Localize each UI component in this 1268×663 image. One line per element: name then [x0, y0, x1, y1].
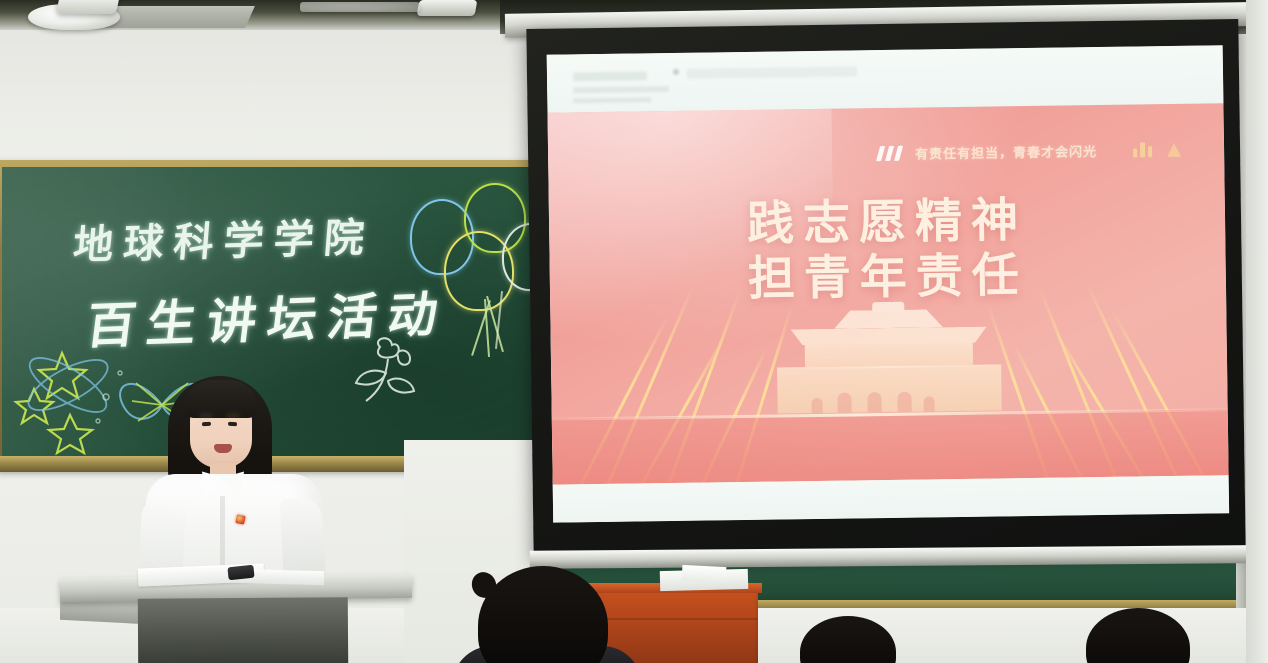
chalk-rose-icon	[340, 333, 450, 423]
speaker-person	[140, 370, 330, 585]
tiananmen-gate-icon	[768, 290, 1010, 413]
right-wall	[1246, 0, 1268, 663]
lectern	[60, 576, 412, 663]
speaker-eye-right	[228, 422, 237, 427]
slide-bottom-margin	[553, 475, 1229, 522]
gold-skyline-icon	[1133, 142, 1181, 158]
slide-tagline-row: 有责任有担当，青春才会闪光	[878, 140, 1181, 163]
lectern-body	[138, 597, 348, 663]
podium-papers-secondary[interactable]	[682, 565, 727, 583]
ceiling-fixture-icon	[417, 0, 478, 16]
speaker-eyebrow-left	[200, 415, 212, 417]
projector-screen-frame[interactable]: 有责任有担当，青春才会闪光 践志愿精神 担青年责任	[526, 19, 1245, 559]
projection-surface: 有责任有担当，青春才会闪光 践志愿精神 担青年责任	[547, 45, 1229, 522]
ceiling-duct	[105, 6, 255, 28]
ceiling-lamp-bracket-icon	[56, 0, 120, 14]
presentation-clicker[interactable]	[227, 565, 254, 581]
speaker-mouth	[214, 444, 232, 453]
speaker-eyebrow-right	[227, 415, 239, 417]
speaker-hair-fringe	[184, 380, 258, 418]
slide-tagline: 有责任有担当，青春才会闪光	[915, 141, 1097, 163]
slant-bars-icon	[876, 146, 903, 161]
blackboard-heading: 地球科学学院	[71, 205, 376, 271]
presentation-slide: 有责任有担当，青春才会闪光 践志愿精神 担青年责任	[548, 103, 1229, 484]
lecture-hall-scene: 地球科学学院 百生讲坛活动	[0, 0, 1268, 663]
speaker-badge-pin-icon	[235, 514, 246, 525]
ceiling-beam	[300, 2, 420, 12]
slide-title-line-1: 践志愿精神	[747, 193, 1028, 252]
speaker-eye-left	[202, 422, 211, 427]
slide-ground-band	[552, 409, 1229, 484]
